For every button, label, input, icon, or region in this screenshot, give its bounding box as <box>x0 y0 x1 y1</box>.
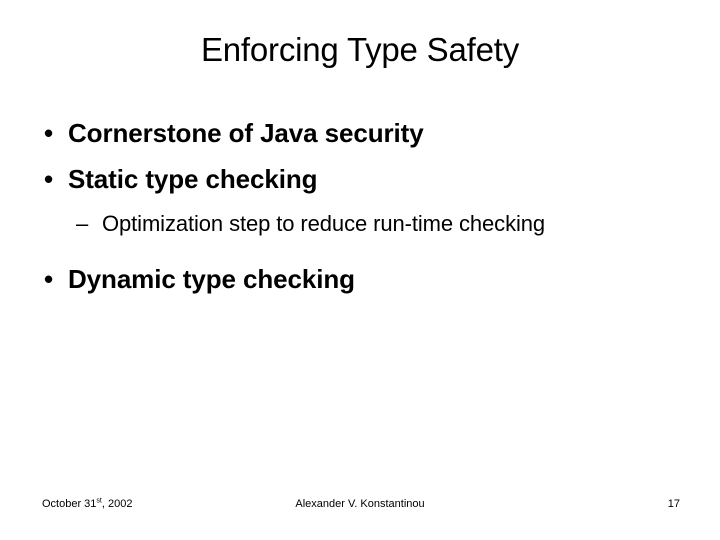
bullet-item-3-label: Dynamic type checking <box>68 264 355 294</box>
slide-canvas: Enforcing Type Safety • Cornerstone of J… <box>0 0 720 540</box>
bullet-item-1: • Cornerstone of Java security <box>0 110 720 156</box>
bullet-item-3: • Dynamic type checking <box>0 256 720 302</box>
footer-page-number: 17 <box>668 494 680 514</box>
page-title: Enforcing Type Safety <box>0 30 720 70</box>
footer-author: Alexander V. Konstantinou <box>0 494 720 514</box>
sub-bullet-item-1: – Optimization step to reduce run-time c… <box>0 202 720 246</box>
bullet-item-1-label: Cornerstone of Java security <box>68 118 424 148</box>
sub-bullet-item-1-label: Optimization step to reduce run-time che… <box>102 211 545 236</box>
slide-body: • Cornerstone of Java security • Static … <box>0 110 720 302</box>
body-spacer <box>0 246 720 256</box>
bullet-marker-icon: • <box>44 156 53 202</box>
dash-marker-icon: – <box>76 202 88 246</box>
slide-footer: October 31st, 2002 Alexander V. Konstant… <box>0 494 720 514</box>
bullet-item-2-label: Static type checking <box>68 164 317 194</box>
bullet-marker-icon: • <box>44 110 53 156</box>
bullet-marker-icon: • <box>44 256 53 302</box>
bullet-item-2: • Static type checking <box>0 156 720 202</box>
